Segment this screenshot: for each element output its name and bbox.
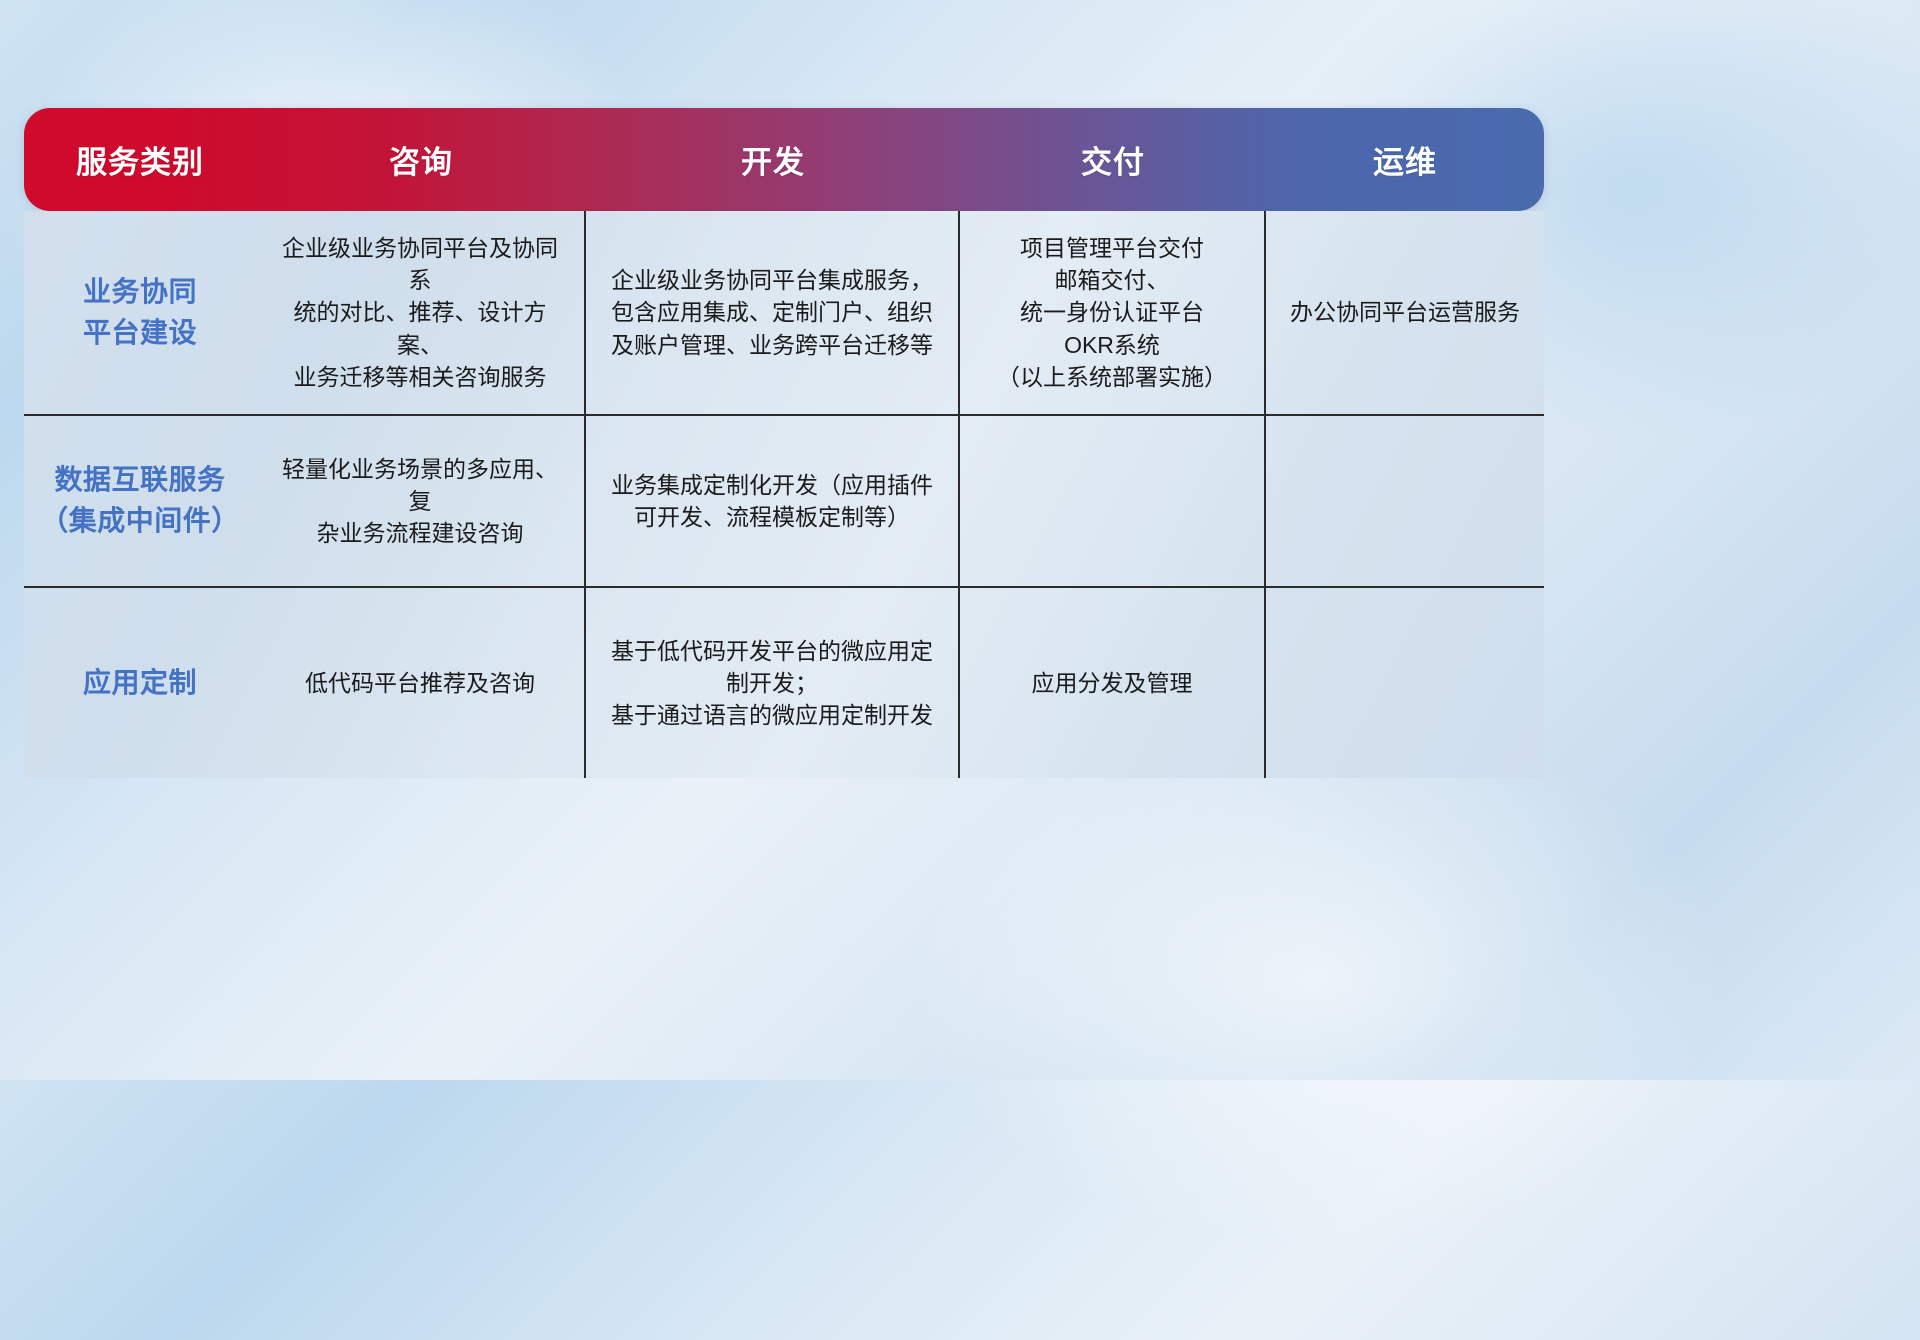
category-label: 应用定制 [83, 663, 197, 704]
development-cell: 企业级业务协同平台集成服务， 包含应用集成、定制门户、组织 及账户管理、业务跨平… [586, 211, 960, 414]
delivery-cell [960, 416, 1266, 586]
row-category-cell: 应用定制 [24, 588, 256, 778]
operations-cell [1266, 416, 1544, 586]
cell-text: 基于低代码开发平台的微应用定 制开发； 基于通过语言的微应用定制开发 [611, 635, 933, 732]
category-label: 数据互联服务 （集成中间件） [40, 460, 240, 541]
column-header-delivery: 交付 [960, 137, 1266, 182]
table-header-row: 服务类别 咨询 开发 交付 运维 [24, 108, 1544, 211]
table-body: 业务协同 平台建设 企业级业务协同平台及协同系 统的对比、推荐、设计方案、 业务… [24, 211, 1544, 778]
cell-text: 企业级业务协同平台及协同系 统的对比、推荐、设计方案、 业务迁移等相关咨询服务 [272, 232, 568, 393]
row-category-cell: 业务协同 平台建设 [24, 211, 256, 414]
operations-cell: 办公协同平台运营服务 [1266, 211, 1544, 414]
column-header-consulting: 咨询 [256, 137, 586, 182]
development-cell: 业务集成定制化开发（应用插件 可开发、流程模板定制等） [586, 416, 960, 586]
column-header-development: 开发 [586, 137, 960, 182]
category-label: 业务协同 平台建设 [83, 272, 197, 353]
consulting-cell: 低代码平台推荐及咨询 [256, 588, 586, 778]
cell-text: 低代码平台推荐及咨询 [305, 667, 535, 699]
cell-text: 项目管理平台交付 邮箱交付、 统一身份认证平台 OKR系统 （以上系统部署实施） [997, 232, 1227, 393]
row-category-cell: 数据互联服务 （集成中间件） [24, 416, 256, 586]
delivery-cell: 项目管理平台交付 邮箱交付、 统一身份认证平台 OKR系统 （以上系统部署实施） [960, 211, 1266, 414]
cell-text: 业务集成定制化开发（应用插件 可开发、流程模板定制等） [611, 469, 933, 533]
consulting-cell: 企业级业务协同平台及协同系 统的对比、推荐、设计方案、 业务迁移等相关咨询服务 [256, 211, 586, 414]
cell-text: 轻量化业务场景的多应用、复 杂业务流程建设咨询 [272, 453, 568, 550]
cell-text: 应用分发及管理 [1032, 667, 1193, 699]
column-header-service-category: 服务类别 [24, 137, 256, 182]
operations-cell [1266, 588, 1544, 778]
column-header-operations: 运维 [1266, 137, 1544, 182]
development-cell: 基于低代码开发平台的微应用定 制开发； 基于通过语言的微应用定制开发 [586, 588, 960, 778]
cell-text: 办公协同平台运营服务 [1290, 296, 1520, 328]
table-row: 数据互联服务 （集成中间件） 轻量化业务场景的多应用、复 杂业务流程建设咨询 业… [24, 416, 1544, 588]
delivery-cell: 应用分发及管理 [960, 588, 1266, 778]
cell-text: 企业级业务协同平台集成服务， 包含应用集成、定制门户、组织 及账户管理、业务跨平… [611, 264, 933, 361]
consulting-cell: 轻量化业务场景的多应用、复 杂业务流程建设咨询 [256, 416, 586, 586]
table-row: 业务协同 平台建设 企业级业务协同平台及协同系 统的对比、推荐、设计方案、 业务… [24, 211, 1544, 416]
service-matrix-table: 服务类别 咨询 开发 交付 运维 业务协同 平台建设 企业级业务协同平台及协同系… [24, 108, 1544, 778]
table-row: 应用定制 低代码平台推荐及咨询 基于低代码开发平台的微应用定 制开发； 基于通过… [24, 588, 1544, 778]
